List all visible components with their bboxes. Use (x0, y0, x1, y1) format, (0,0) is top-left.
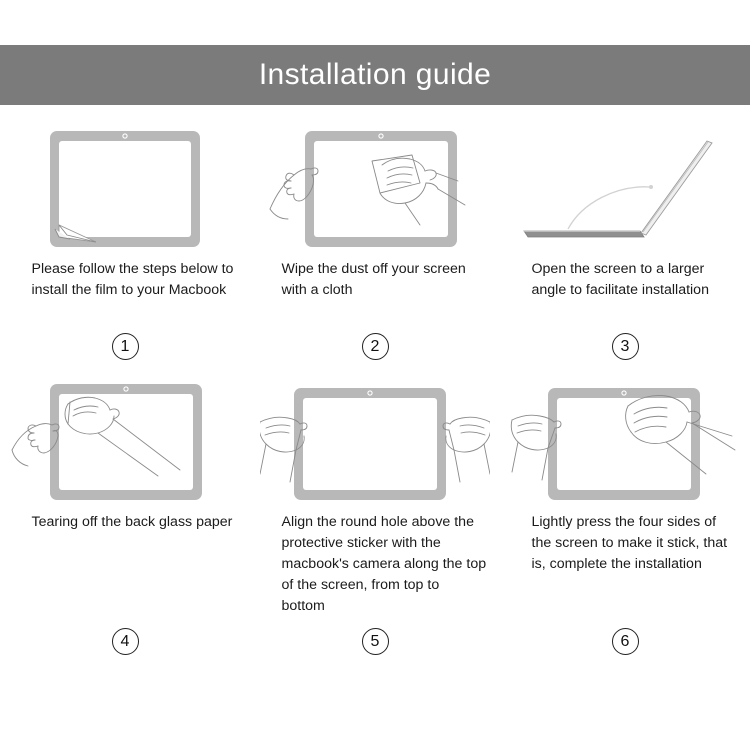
step-cell-6: Lightly press the four sides of the scre… (500, 378, 750, 655)
steps-grid: Please follow the steps below to install… (0, 125, 750, 655)
badge-wrap-6: 6 (500, 628, 750, 655)
step-badge-2: 2 (362, 333, 389, 360)
step-text-5: Align the round hole above the protectiv… (282, 512, 487, 618)
step-text-2: Wipe the dust off your screen with a clo… (282, 259, 487, 323)
illustration-two-hands-aligning-film-on-screen (260, 378, 490, 506)
badge-wrap-5: 5 (250, 628, 500, 655)
illustration-hands-tearing-off-backing-paper (10, 378, 240, 506)
page-title: Installation guide (259, 60, 491, 90)
badge-wrap-2: 2 (250, 333, 500, 360)
step-cell-5: Align the round hole above the protectiv… (250, 378, 500, 655)
step-badge-6: 6 (612, 628, 639, 655)
step-cell-3: Open the screen to a larger angle to fac… (500, 125, 750, 360)
illustration-hands-wiping-screen-with-cloth (260, 125, 490, 253)
step-badge-4: 4 (112, 628, 139, 655)
step-badge-3: 3 (612, 333, 639, 360)
badge-wrap-4: 4 (0, 628, 250, 655)
badge-wrap-3: 3 (500, 333, 750, 360)
illustration-laptop-side-view-opening-screen (510, 125, 740, 253)
step-cell-4: Tearing off the back glass paper 4 (0, 378, 250, 655)
step-text-4: Tearing off the back glass paper (32, 512, 237, 618)
step-badge-1: 1 (112, 333, 139, 360)
step-cell-1: Please follow the steps below to install… (0, 125, 250, 360)
step-text-3: Open the screen to a larger angle to fac… (532, 259, 737, 323)
header-band: Installation guide (0, 45, 750, 105)
step-badge-5: 5 (362, 628, 389, 655)
badge-wrap-1: 1 (0, 333, 250, 360)
step-cell-2: Wipe the dust off your screen with a clo… (250, 125, 500, 360)
illustration-screen-with-peeling-film-corner (10, 125, 240, 253)
illustration-hand-pressing-film-onto-screen (510, 378, 740, 506)
step-text-1: Please follow the steps below to install… (32, 259, 237, 323)
step-text-6: Lightly press the four sides of the scre… (532, 512, 737, 618)
